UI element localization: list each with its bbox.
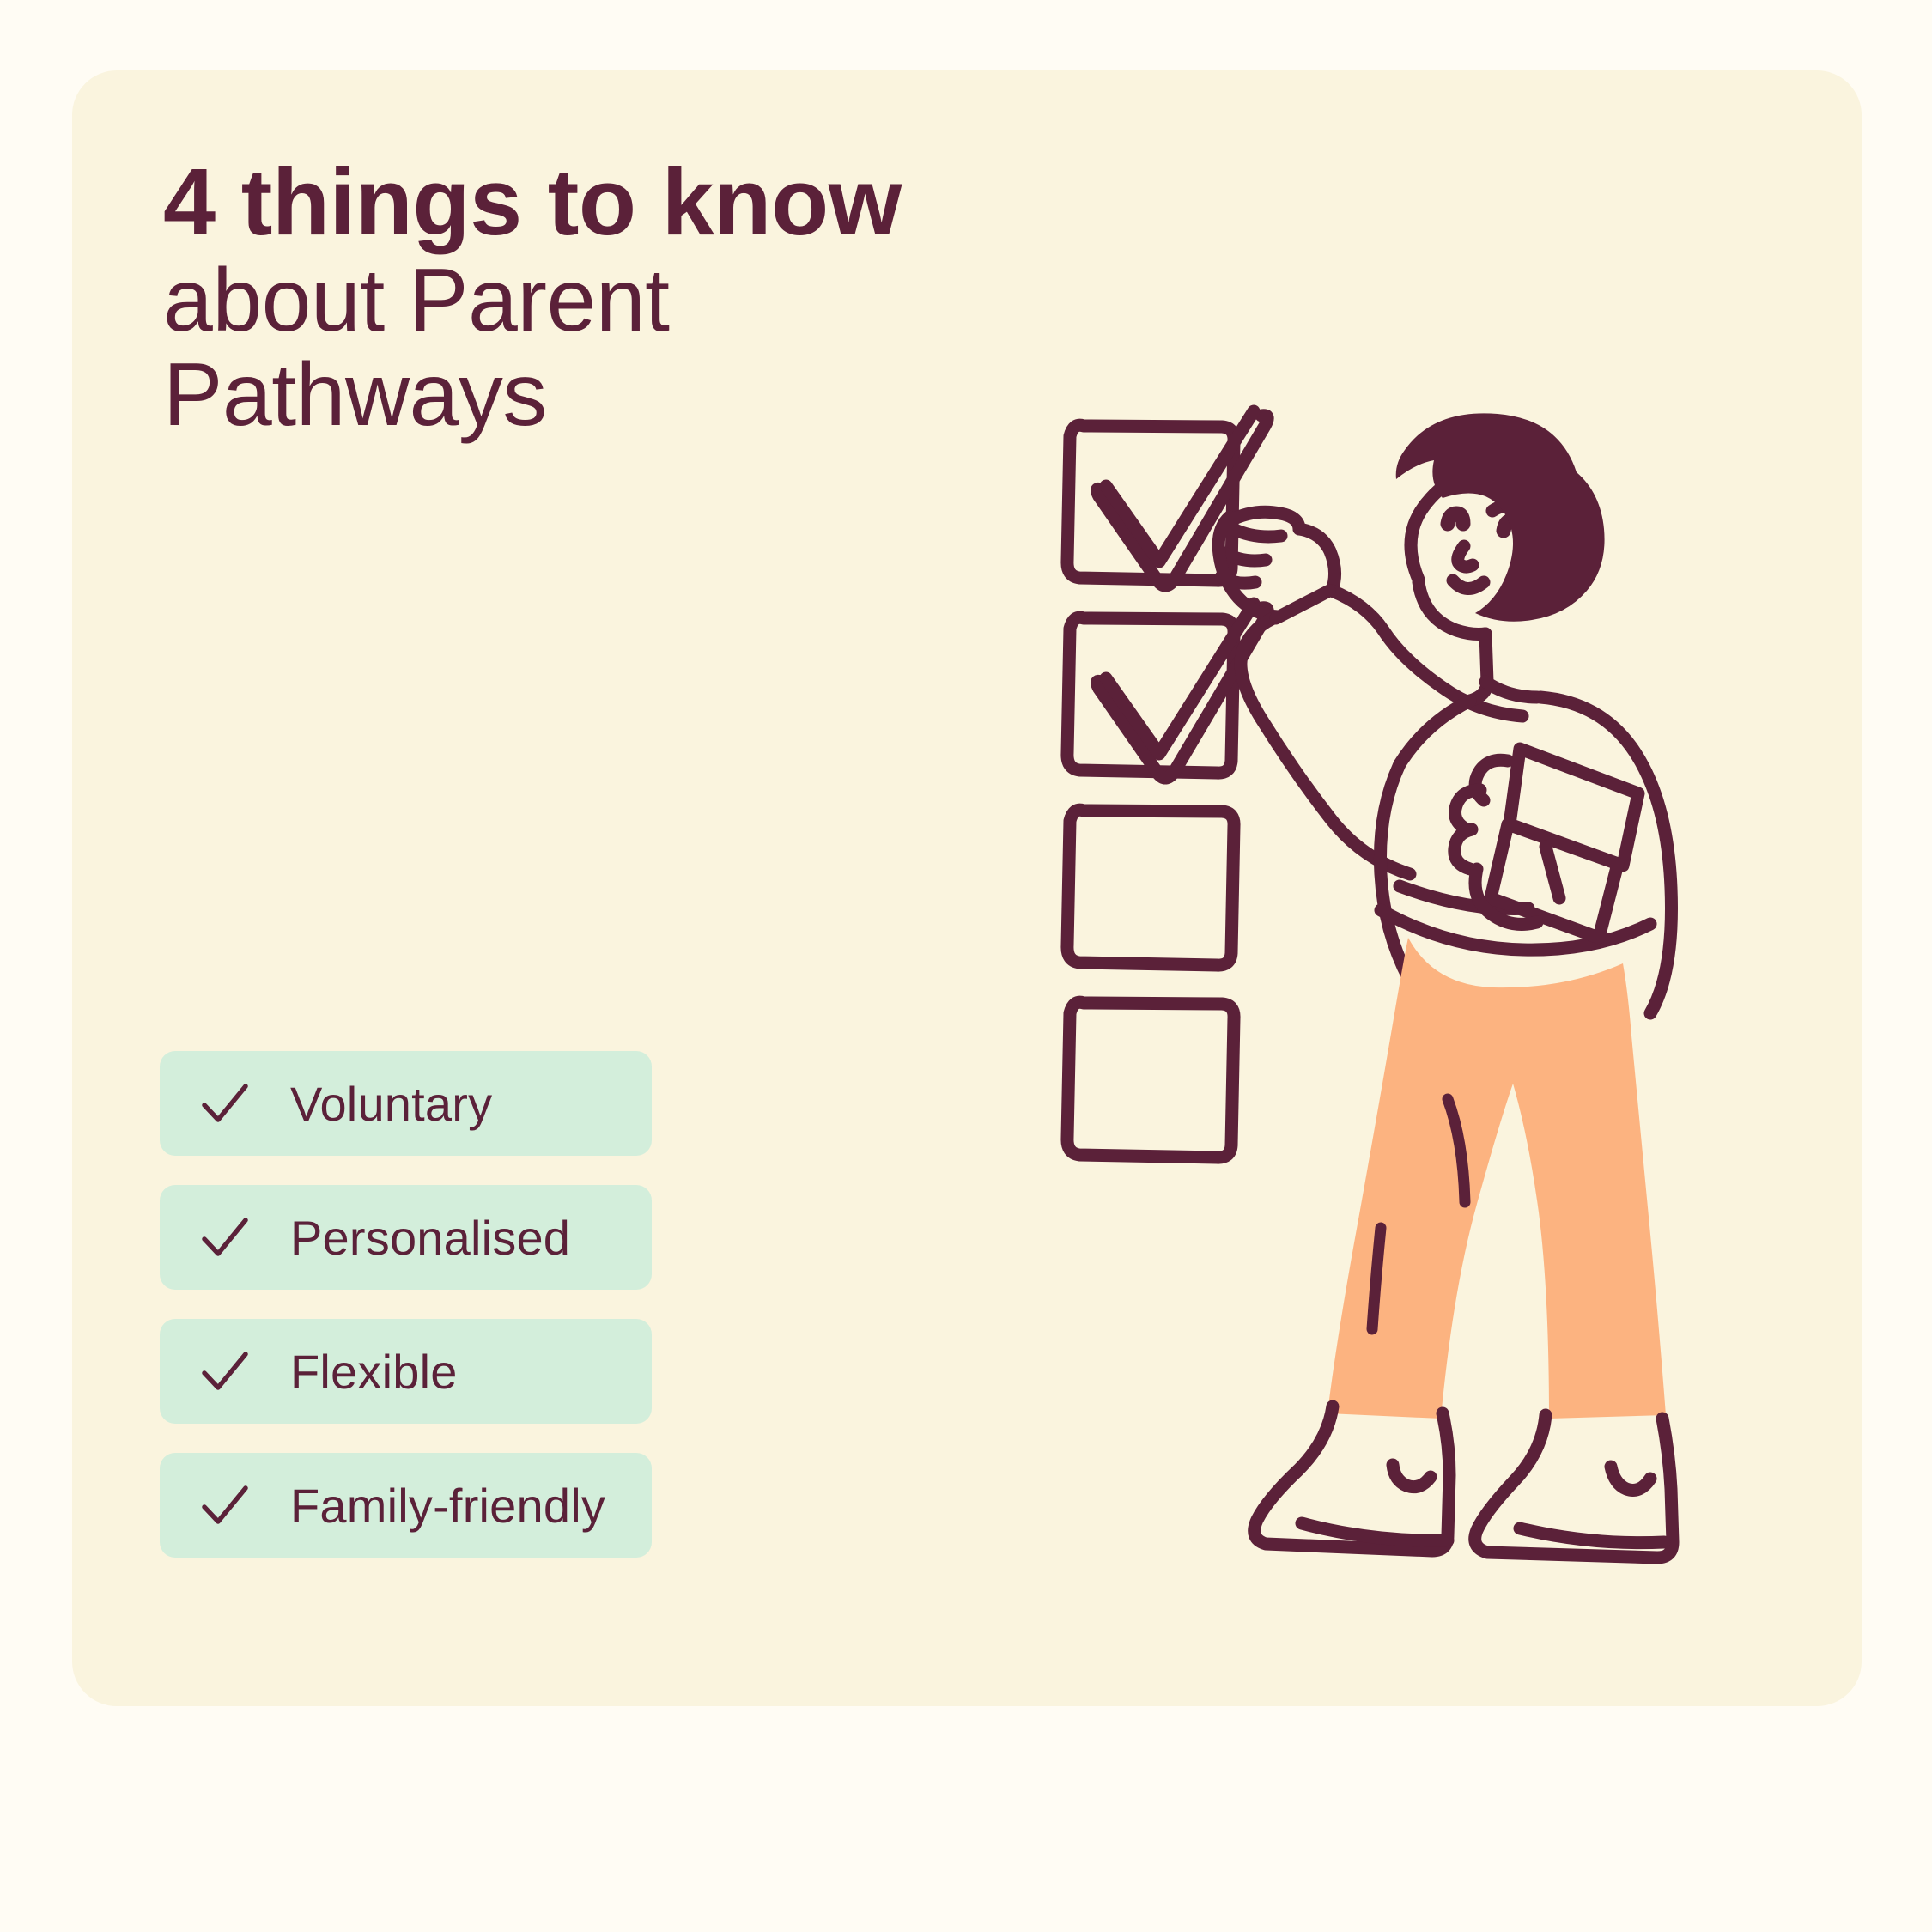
check-icon — [199, 1078, 251, 1129]
feature-item-personalised[interactable]: Personalised — [160, 1185, 652, 1290]
check-icon — [199, 1479, 251, 1531]
feature-label: Personalised — [290, 1210, 570, 1266]
feature-item-flexible[interactable]: Flexible — [160, 1319, 652, 1424]
page-title: 4 things to know about Parent Pathways — [163, 153, 1159, 442]
feature-item-voluntary[interactable]: Voluntary — [160, 1051, 652, 1156]
poster-canvas: 4 things to know about Parent Pathways V… — [0, 0, 1932, 1932]
illustration-woman-ticking-checklist — [1030, 361, 1898, 1752]
check-icon — [199, 1212, 251, 1263]
figure-trousers — [1327, 938, 1666, 1419]
feature-item-family-friendly[interactable]: Family-friendly — [160, 1453, 652, 1558]
feature-label: Family-friendly — [290, 1478, 605, 1534]
feature-label: Flexible — [290, 1344, 458, 1400]
feature-list: Voluntary Personalised Flexible Family-f… — [160, 1051, 652, 1558]
checkbox-3-empty — [1067, 810, 1234, 965]
check-icon — [199, 1346, 251, 1397]
figure-papers — [1491, 749, 1638, 938]
headline-line-1: 4 things to know — [163, 153, 1159, 253]
feature-label: Voluntary — [290, 1076, 492, 1132]
figure-hair — [1396, 413, 1605, 621]
headline-line-3: Pathways — [163, 348, 1159, 442]
headline-line-2: about Parent — [163, 253, 1159, 348]
figure-shoes — [1255, 1406, 1673, 1558]
checkbox-2-checked — [1067, 604, 1267, 778]
checkbox-4-empty — [1067, 1002, 1234, 1157]
